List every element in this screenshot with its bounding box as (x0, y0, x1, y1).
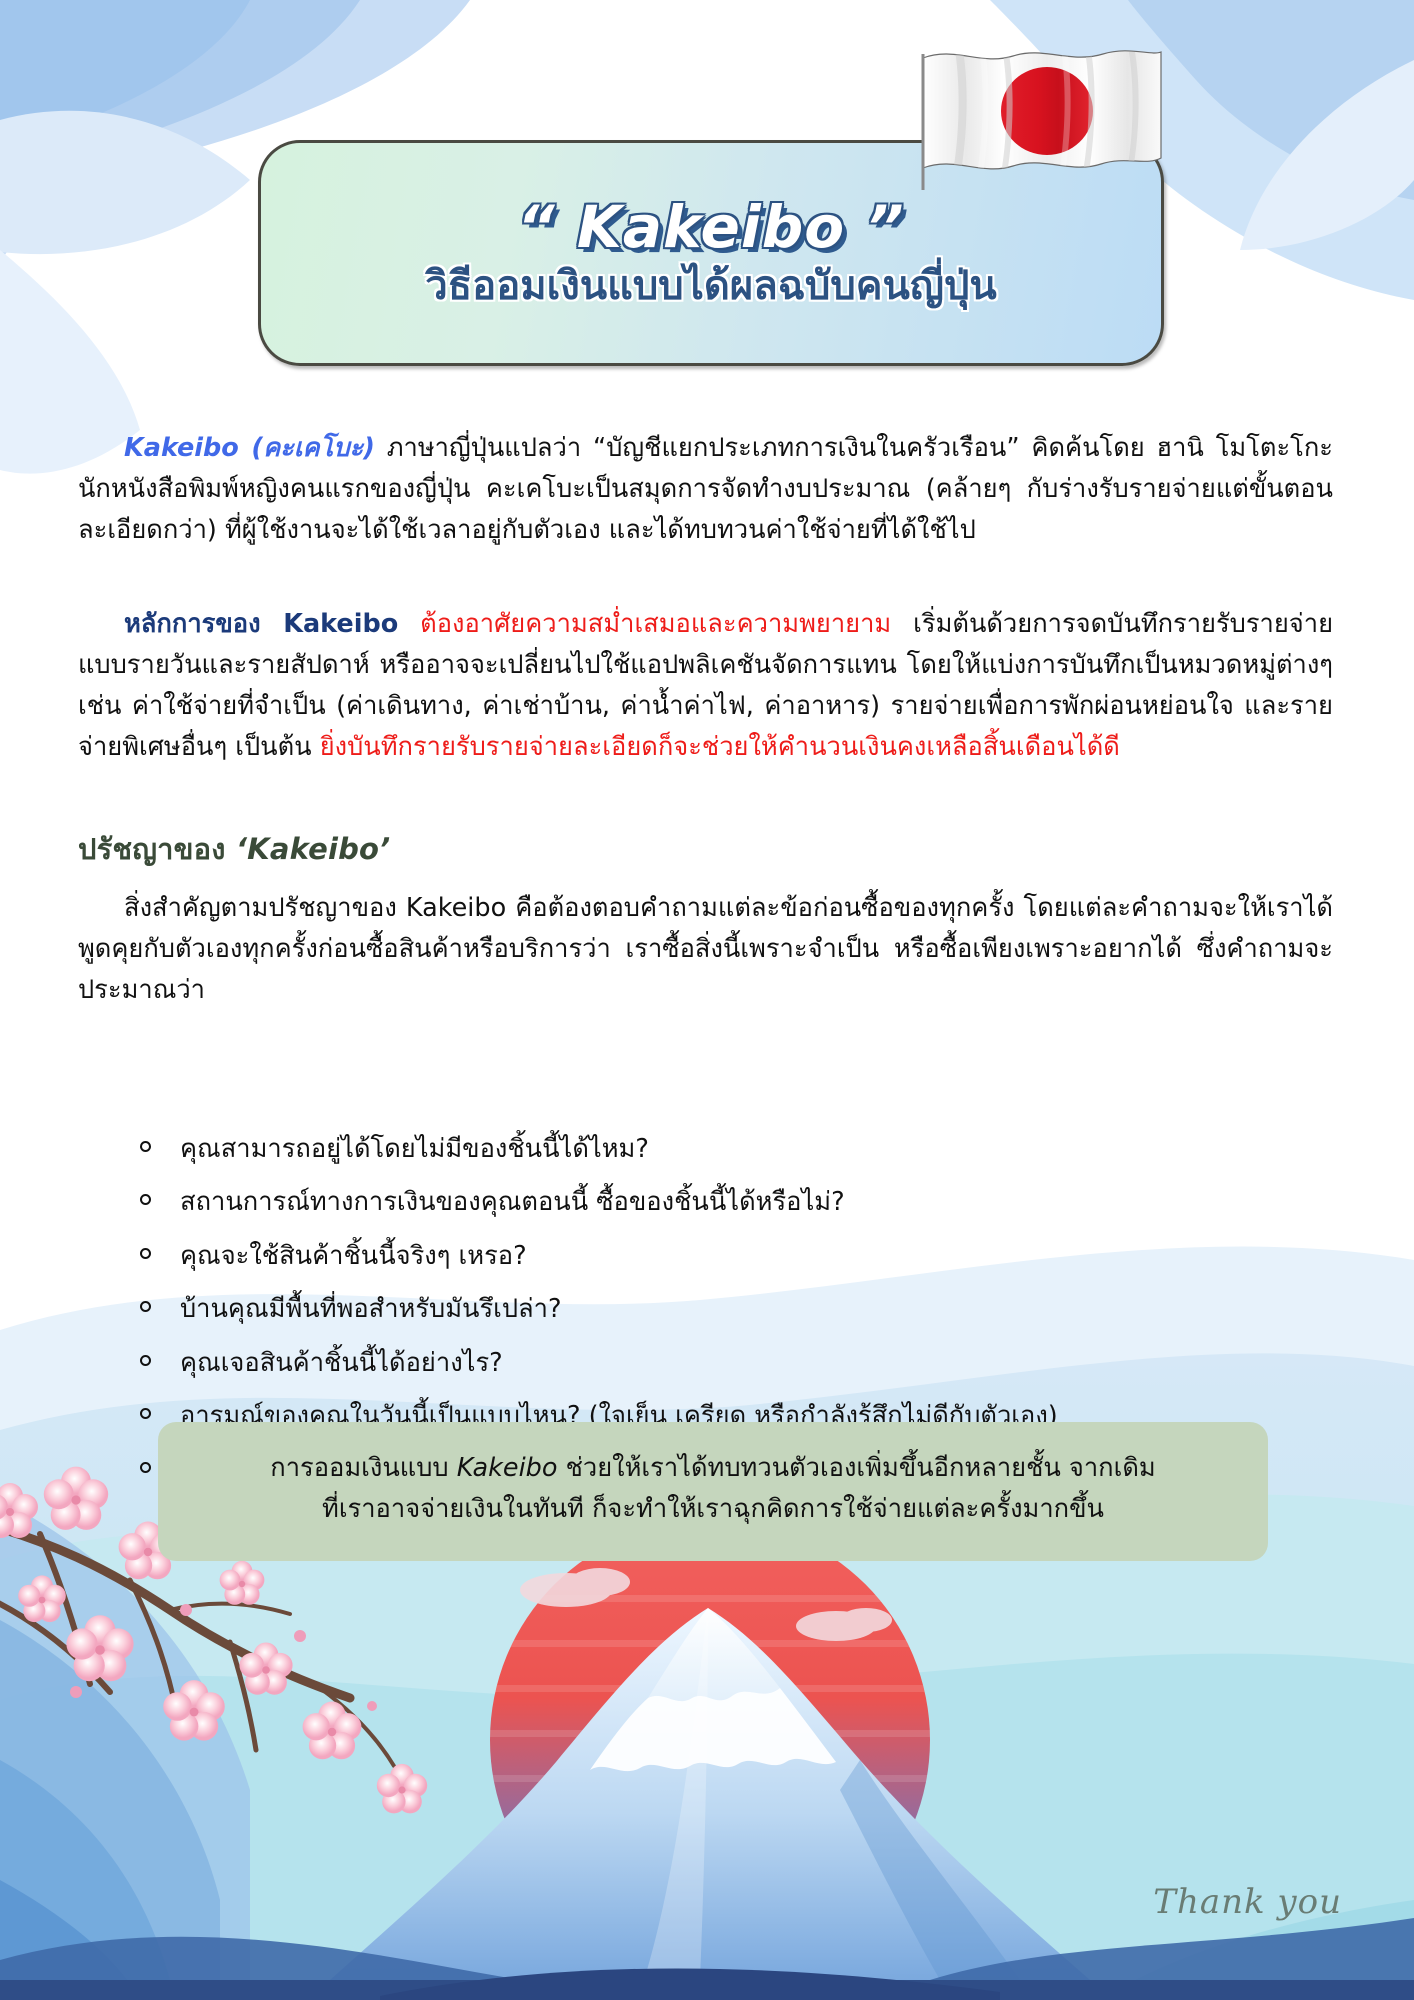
paragraph-1: Kakeibo (คะเคโบะ) ภาษาญี่ปุ่นแปลว่า “บัญ… (78, 428, 1333, 552)
banner-title-th: วิธีออมเงินแบบได้ผลฉบับคนญี่ปุ่น (425, 263, 996, 309)
list-item-text: บ้านคุณมีพื้นที่พอสำหรับมันรึเปล่า? (180, 1294, 562, 1324)
list-item: คุณสามารถอยู่ได้โดยไม่มีของชิ้นนี้ได้ไหม… (128, 1132, 1308, 1166)
paragraph-1-lead: Kakeibo (คะเคโบะ) (124, 433, 375, 463)
bullet-circle-icon (140, 1462, 151, 1473)
bullet-circle-icon (140, 1248, 151, 1259)
paragraph-2-lead: หลักการของ Kakeibo (124, 609, 398, 639)
section-heading-th: ปรัชญาของ (78, 832, 236, 866)
list-item: คุณจะใช้สินค้าชิ้นนี้จริงๆ เหรอ? (128, 1239, 1308, 1273)
section-heading-en: ‘Kakeibo’ (236, 832, 390, 866)
banner-title-en: “ Kakeibo ” (517, 197, 904, 258)
summary-callout: การออมเงินแบบ Kakeibo ช่วยให้เราได้ทบทวน… (158, 1422, 1268, 1561)
thank-you-signature: Thank you (1153, 1882, 1342, 1922)
summary-line-2: ที่เราอาจจ่ายเงินในทันที ก็จะทำให้เราฉุก… (198, 1489, 1228, 1530)
section-heading-philosophy: ปรัชญาของ ‘Kakeibo’ (78, 826, 390, 872)
bullet-circle-icon (140, 1301, 151, 1312)
paragraph-2-red-2: ยิ่งบันทึกรายรับรายจ่ายละเอียดก็จะช่วยให… (320, 732, 1120, 762)
list-item-text: คุณเจอสินค้าชิ้นนี้ได้อย่างไร? (180, 1348, 503, 1378)
paragraph-3-body: สิ่งสำคัญตามปรัชญาของ Kakeibo คือต้องตอบ… (78, 893, 1333, 1006)
bullet-circle-icon (140, 1355, 151, 1366)
paragraph-2: หลักการของ Kakeibo ต้องอาศัยความสม่ำเสมอ… (78, 604, 1333, 769)
list-item: บ้านคุณมีพื้นที่พอสำหรับมันรึเปล่า? (128, 1292, 1308, 1326)
bullet-circle-icon (140, 1141, 151, 1152)
list-item-text: สถานการณ์ทางการเงินของคุณตอนนี้ ซื้อของช… (180, 1187, 845, 1217)
list-item: คุณเจอสินค้าชิ้นนี้ได้อย่างไร? (128, 1346, 1308, 1380)
japan-flag-icon (915, 40, 1165, 190)
bullet-circle-icon (140, 1194, 151, 1205)
summary-line-1-b: ช่วยให้เราได้ทบทวนตัวเองเพิ่มขึ้นอีกหลาย… (557, 1453, 1155, 1483)
paragraph-2-red-1: ต้องอาศัยความสม่ำเสมอและความพยายาม (420, 609, 891, 639)
list-item-text: คุณจะใช้สินค้าชิ้นนี้จริงๆ เหรอ? (180, 1241, 527, 1271)
summary-line-1-a: การออมเงินแบบ (270, 1453, 456, 1483)
paragraph-3: สิ่งสำคัญตามปรัชญาของ Kakeibo คือต้องตอบ… (78, 888, 1333, 1012)
bullet-circle-icon (140, 1408, 151, 1419)
summary-line-1: การออมเงินแบบ Kakeibo ช่วยให้เราได้ทบทวน… (198, 1448, 1228, 1489)
list-item: สถานการณ์ทางการเงินของคุณตอนนี้ ซื้อของช… (128, 1185, 1308, 1219)
summary-line-1-en: Kakeibo (457, 1453, 558, 1483)
poster-page: “ Kakeibo ” วิธีออมเงินแบบได้ผลฉบับคนญี่… (0, 0, 1414, 2000)
list-item-text: คุณสามารถอยู่ได้โดยไม่มีของชิ้นนี้ได้ไหม… (180, 1134, 649, 1164)
